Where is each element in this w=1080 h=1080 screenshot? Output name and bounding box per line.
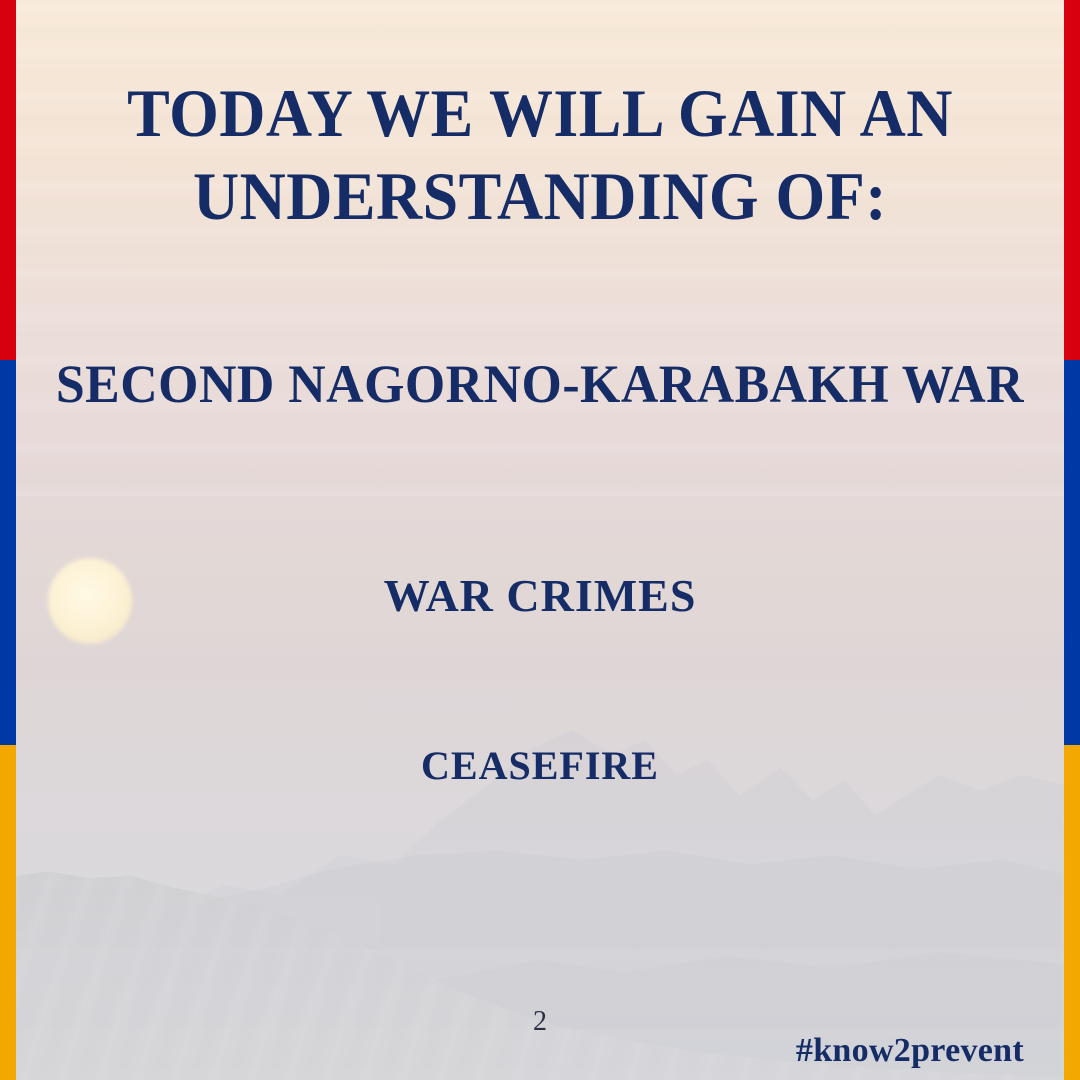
flag-band-red xyxy=(0,0,16,360)
flag-band-red xyxy=(1064,0,1080,360)
flag-band-gold xyxy=(1064,745,1080,1080)
page-title: TODAY WE WILL GAIN AN UNDERSTANDING OF: xyxy=(47,72,1032,238)
list-item: WAR CRIMES xyxy=(16,568,1064,624)
slide-content: TODAY WE WILL GAIN AN UNDERSTANDING OF: … xyxy=(16,0,1064,1080)
slide-canvas: TODAY WE WILL GAIN AN UNDERSTANDING OF: … xyxy=(0,0,1080,1080)
flag-stripe-left xyxy=(0,0,16,1080)
flag-band-blue xyxy=(1064,360,1080,745)
campaign-hashtag: #know2prevent xyxy=(796,1032,1024,1070)
topic-list: SECOND NAGORNO-KARABAKH WAR WAR CRIMES C… xyxy=(16,352,1064,791)
list-item: CEASEFIRE xyxy=(16,742,1064,791)
flag-stripe-right xyxy=(1064,0,1080,1080)
flag-band-gold xyxy=(0,745,16,1080)
flag-band-blue xyxy=(0,360,16,745)
list-item: SECOND NAGORNO-KARABAKH WAR xyxy=(37,352,1043,418)
